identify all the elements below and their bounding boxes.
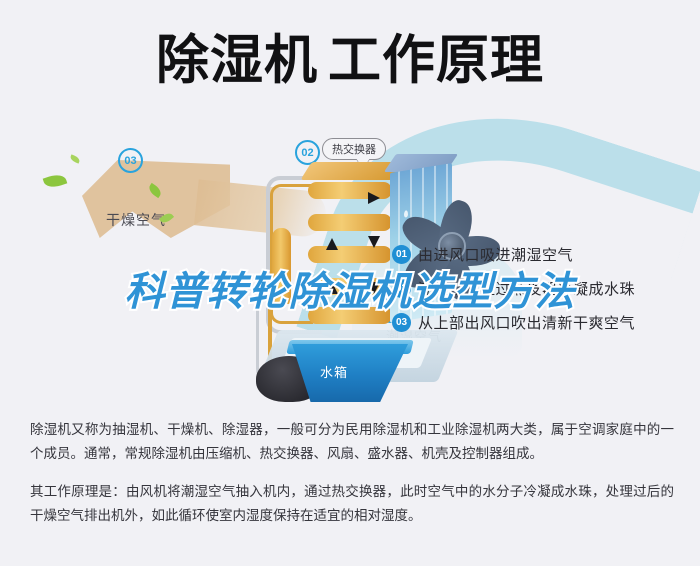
page-title-part-a: 除湿机 <box>156 31 318 90</box>
step-badge: 01 <box>392 245 411 264</box>
infographic-page: 除湿机工作原理 干燥空气 潮湿空气 03 02 01 热交换器 <box>0 0 700 566</box>
body-copy: 除湿机又称为抽湿机、干燥机、除湿器，一般可分为民用除湿机和工业除湿机两大类，属于… <box>30 418 674 528</box>
airflow-up-arrow-icon <box>326 238 338 250</box>
paragraph-1: 除湿机又称为抽湿机、干燥机、除湿器，一般可分为民用除湿机和工业除湿机两大类，属于… <box>30 418 674 466</box>
list-item: 01 由进风口吸进潮湿空气 <box>392 244 692 265</box>
diagram-badge-dry-air: 03 <box>118 148 143 173</box>
page-title-part-b: 工作原理 <box>328 31 544 90</box>
airflow-side-arrow-icon <box>368 192 380 204</box>
leaf-icon <box>69 154 81 163</box>
paragraph-2: 其工作原理是：由风机将潮湿空气抽入机内，通过热交换器，此时空气中的水分子冷凝成水… <box>30 480 674 528</box>
coil-row-icon <box>308 214 392 231</box>
airflow-down-arrow-icon <box>368 236 380 248</box>
page-title: 除湿机工作原理 <box>0 30 700 92</box>
water-tank-label: 水箱 <box>320 362 348 381</box>
dry-air-label: 干燥空气 <box>106 210 166 230</box>
leaf-icon <box>43 172 68 190</box>
overlay-watermark-title: 科普转轮除湿机选型方法 <box>0 268 700 316</box>
step-text: 由进风口吸进潮湿空气 <box>418 244 573 265</box>
water-tank-icon <box>292 344 408 402</box>
coil-row-icon <box>308 246 392 263</box>
